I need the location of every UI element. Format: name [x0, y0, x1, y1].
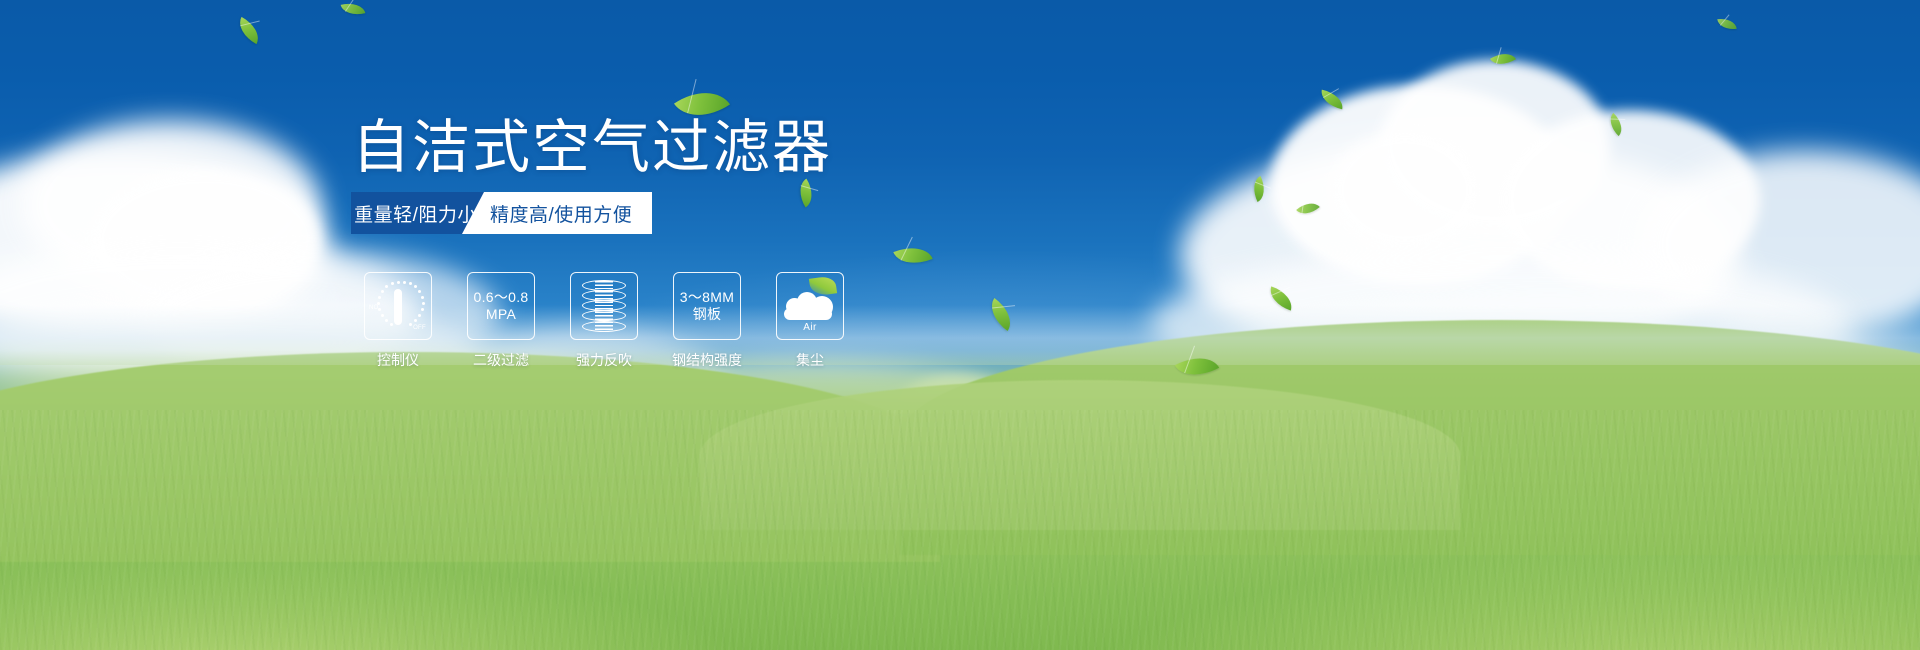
steel-plate-text-icon: 3～8MM 钢板	[680, 289, 734, 323]
feature-item-steel-strength[interactable]: 3～8MM 钢板 钢结构强度	[668, 272, 746, 370]
banner-content: 自洁式空气过滤器 重量轻/阻力小 精度高/使用方便	[0, 0, 1920, 650]
feature-item-dust-collection[interactable]: Air 集尘	[771, 272, 849, 370]
feature-caption-dust-collection: 集尘	[796, 350, 824, 370]
tag-precision-convenience[interactable]: 精度高/使用方便	[462, 192, 652, 234]
product-banner: 自洁式空气过滤器 重量轻/阻力小 精度高/使用方便	[0, 0, 1920, 650]
feature-caption-controller: 控制仪	[377, 350, 419, 370]
page-title: 自洁式空气过滤器	[352, 118, 832, 178]
tag-weight-resistance[interactable]: 重量轻/阻力小	[351, 192, 484, 234]
dial-label-off: OFF	[413, 325, 426, 331]
dial-label-no: NO	[369, 305, 379, 311]
feature-caption-backblow: 强力反吹	[576, 350, 632, 370]
control-dial-icon: NO OFF	[369, 278, 427, 334]
air-label: Air	[782, 322, 838, 333]
feature-caption-filtration: 二级过滤	[473, 350, 529, 370]
pressure-value: 0.6～0.8	[473, 289, 528, 306]
feature-box-steel-strength: 3～8MM 钢板	[673, 272, 741, 340]
feature-icon-row: NO OFF 控制仪 0.6～0.8 MPA 二级过滤	[359, 272, 849, 370]
pressure-text-icon: 0.6～0.8 MPA	[473, 289, 528, 323]
steel-material: 钢板	[680, 306, 734, 323]
pressure-unit: MPA	[473, 306, 528, 323]
feature-box-backblow	[570, 272, 638, 340]
dust-cloud-icon: Air	[782, 280, 838, 332]
coil-spring-icon	[581, 279, 627, 333]
feature-item-filtration[interactable]: 0.6～0.8 MPA 二级过滤	[462, 272, 540, 370]
feature-item-controller[interactable]: NO OFF 控制仪	[359, 272, 437, 370]
feature-tag-group: 重量轻/阻力小 精度高/使用方便	[351, 192, 652, 234]
feature-box-dust-collection: Air	[776, 272, 844, 340]
steel-thickness: 3～8MM	[680, 289, 734, 306]
feature-caption-steel-strength: 钢结构强度	[672, 350, 742, 370]
feature-box-filtration: 0.6～0.8 MPA	[467, 272, 535, 340]
feature-box-controller: NO OFF	[364, 272, 432, 340]
feature-item-backblow[interactable]: 强力反吹	[565, 272, 643, 370]
